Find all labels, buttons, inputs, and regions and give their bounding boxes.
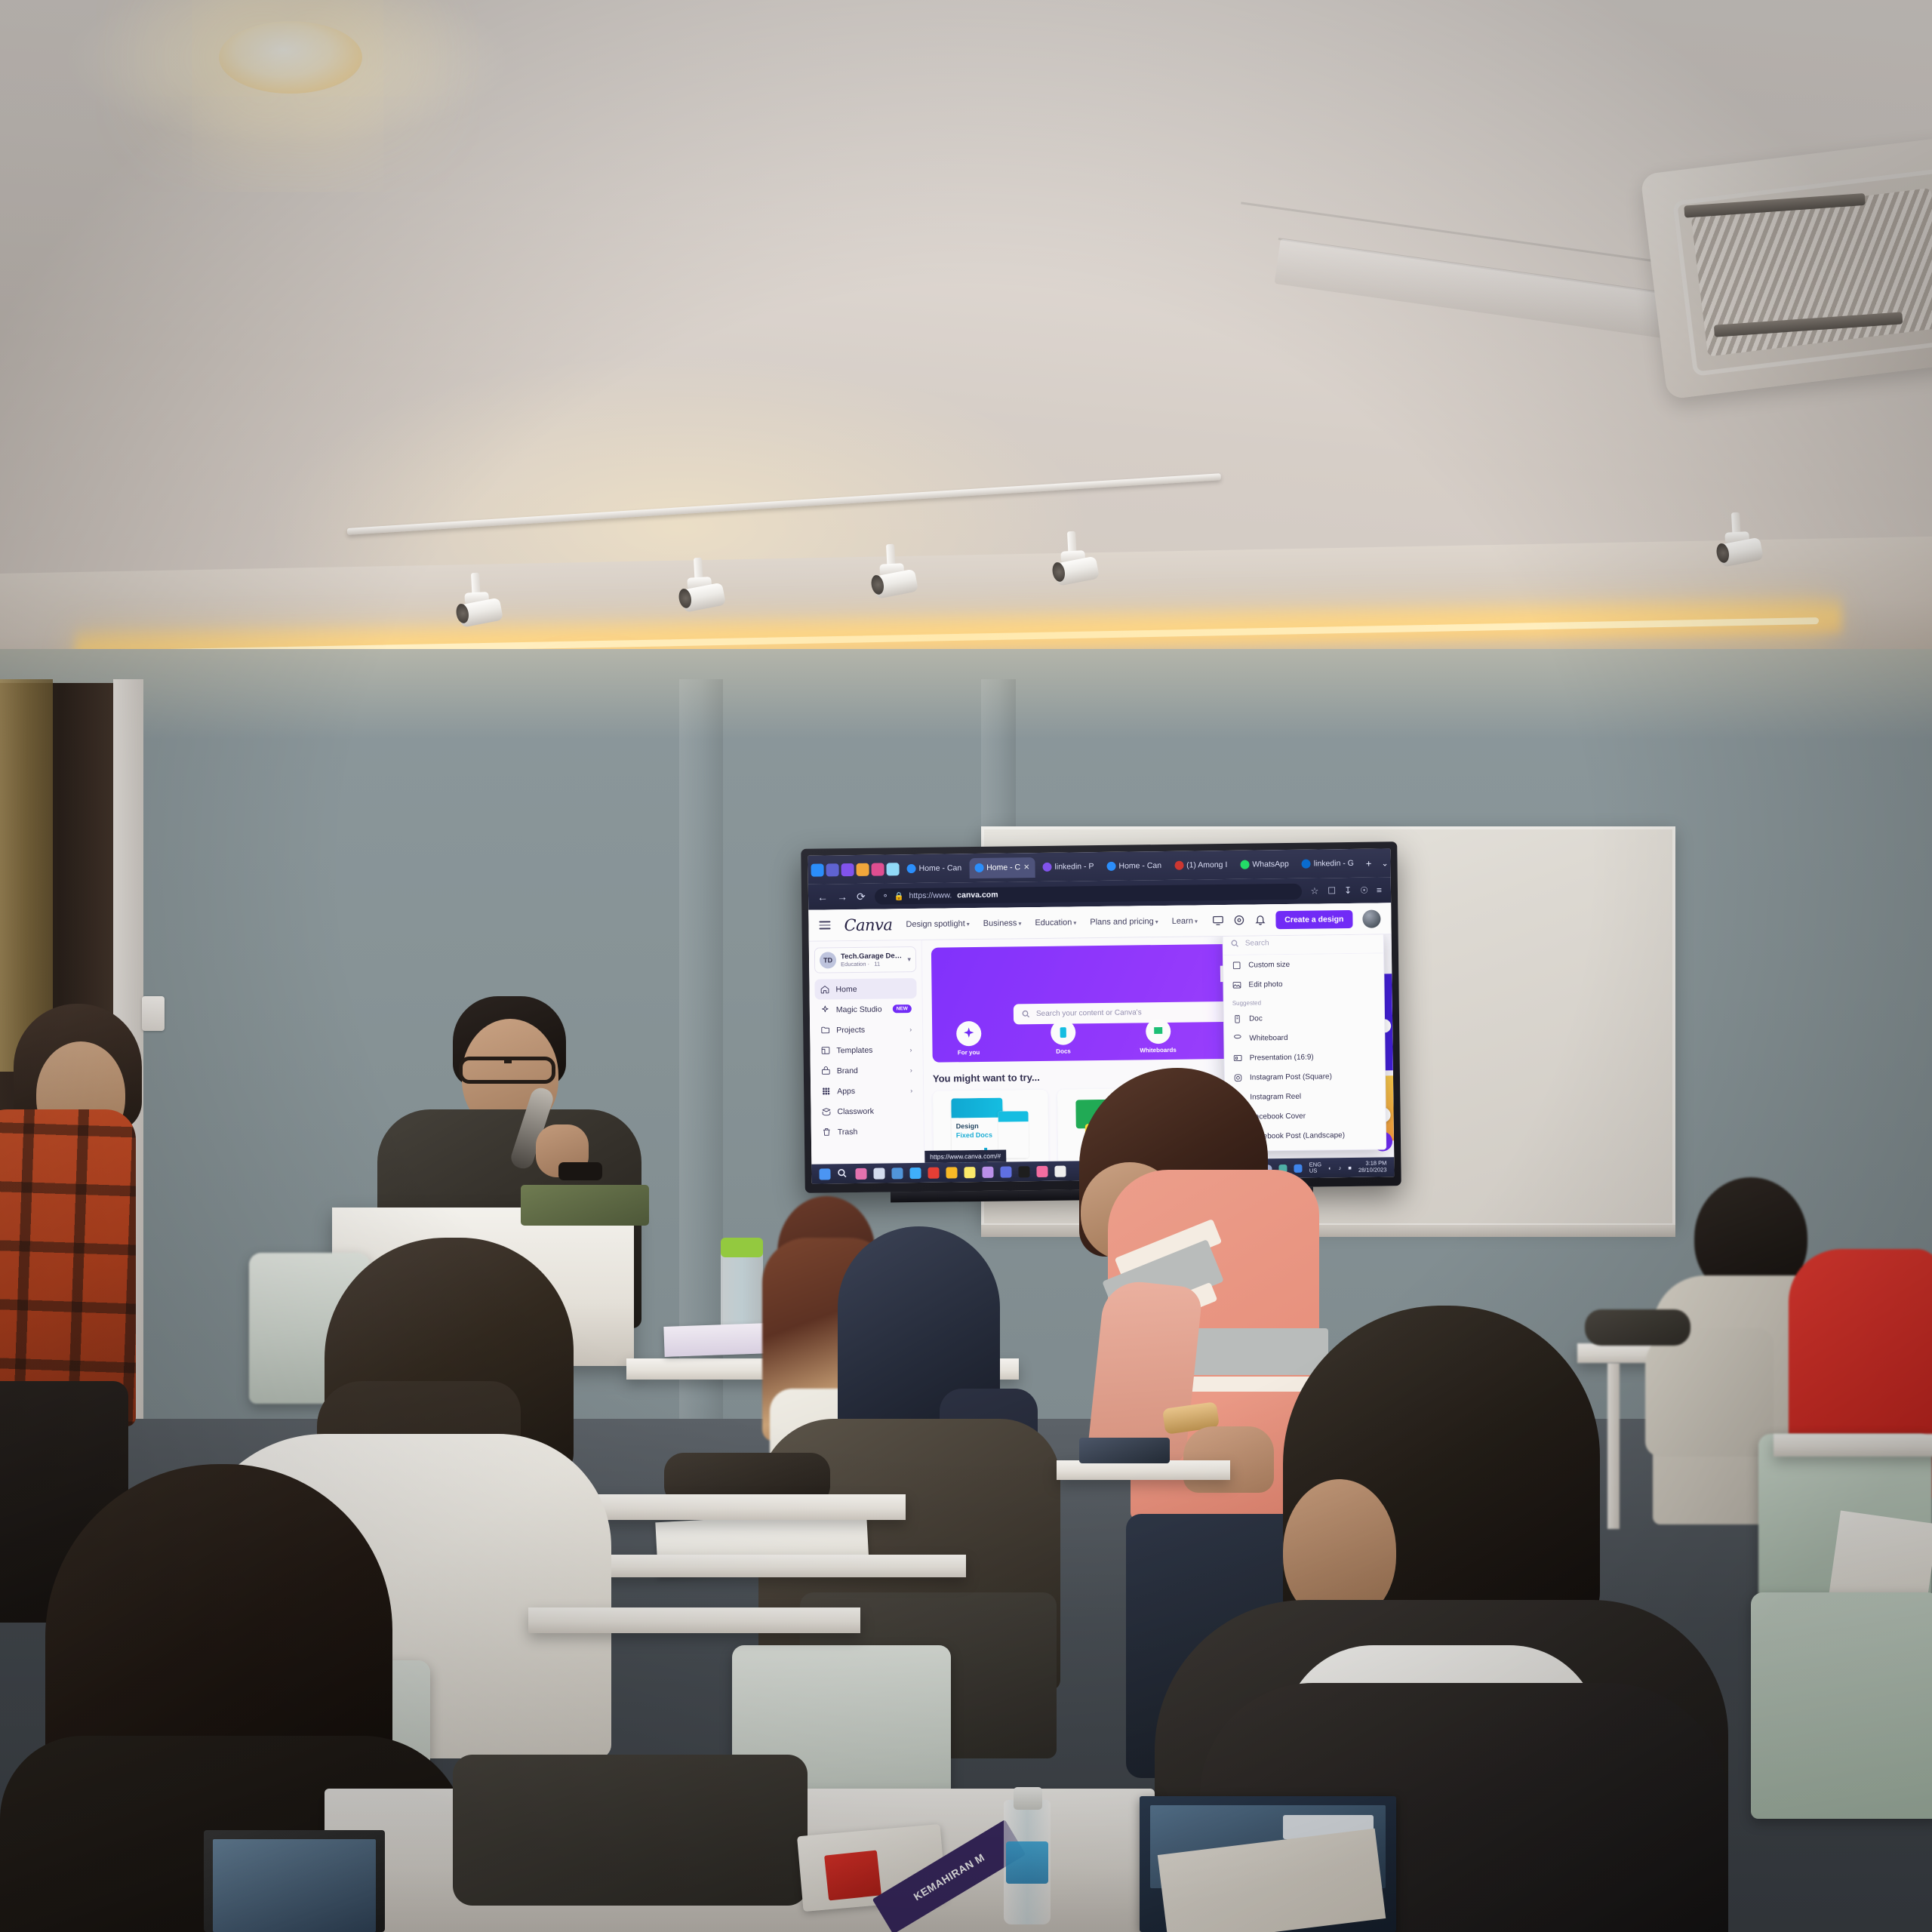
wall-upper-light-wash — [0, 649, 1932, 740]
wifi-icon[interactable]: ◐ — [1328, 1164, 1332, 1171]
back-icon[interactable]: ← — [817, 891, 828, 903]
tab-title: linkedin - P — [1054, 862, 1094, 872]
presentation-icon — [1233, 1053, 1243, 1063]
dropdown-search-input[interactable]: Search — [1223, 934, 1383, 955]
canva-nav-learn[interactable]: Learn▾ — [1172, 916, 1198, 925]
dropdown-item-label: Whiteboard — [1249, 1033, 1287, 1042]
chevron-right-icon[interactable]: › — [909, 1026, 912, 1033]
sanitizer-liquid — [1006, 1841, 1048, 1884]
tablet-on-desk[interactable] — [1079, 1438, 1170, 1463]
sanitizer-cap — [1014, 1787, 1042, 1810]
taskbar-tiktok-icon[interactable] — [1018, 1166, 1029, 1177]
custom-size-icon — [1232, 960, 1241, 970]
team-name: Tech.Garage Dec 8/... — [841, 952, 903, 961]
canva-nav-plans-and-pricing[interactable]: Plans and pricing▾ — [1090, 917, 1158, 927]
taskbar-pdf-icon[interactable] — [928, 1167, 939, 1178]
team-meta: Education · 11 — [841, 960, 903, 968]
sidebar-item-label: Projects — [836, 1025, 903, 1035]
edit-photo-icon — [1232, 980, 1241, 989]
desk-right-front — [1774, 1434, 1932, 1457]
help-icon[interactable] — [1233, 915, 1244, 926]
pinned-store-icon[interactable] — [856, 863, 869, 875]
ceiling-cassette-air-conditioner — [1640, 137, 1932, 400]
whiteboard-icon — [1152, 1025, 1164, 1038]
nav-label: Plans and pricing — [1090, 917, 1154, 927]
url-prefix: https://www. — [909, 891, 952, 900]
downloads-icon[interactable]: ↧ — [1344, 885, 1352, 896]
taskbar-search-icon[interactable] — [837, 1168, 848, 1180]
whiteboard-icon — [1232, 1033, 1242, 1043]
tab-favicon — [907, 864, 916, 873]
browser-tab-3[interactable]: Home - Can — [1101, 855, 1167, 876]
hero-search-placeholder: Search your content or Canva's — [1036, 1008, 1142, 1018]
dropdown-item-doc[interactable]: Doc — [1224, 1007, 1384, 1029]
sidebar-item-label: Apps — [837, 1086, 904, 1096]
pinned-obsidian-icon[interactable] — [841, 863, 854, 875]
user-avatar[interactable] — [1362, 909, 1380, 928]
browser-tab-1[interactable]: Home - C✕ — [969, 857, 1035, 878]
profile-icon[interactable]: ☉ — [1360, 885, 1368, 896]
url-input[interactable]: ⚬ 🔒 https://www.canva.com — [875, 883, 1302, 904]
bottle-cap — [721, 1238, 763, 1257]
podium-tray — [521, 1185, 649, 1226]
menu-icon[interactable]: ≡ — [1377, 884, 1382, 895]
battery-icon[interactable]: ■ — [1348, 1164, 1352, 1171]
sidebar-item-label: Magic Studio — [836, 1004, 887, 1014]
sidebar-item-projects[interactable]: Projects› — [815, 1019, 917, 1041]
tab-title: Home - Can — [919, 863, 962, 873]
dropdown-item-label: Instagram Reel — [1250, 1092, 1301, 1101]
dropdown-item-custom-size[interactable]: Custom size — [1223, 953, 1383, 975]
pinned-edge-icon[interactable] — [811, 863, 823, 876]
taskbar-paint-icon[interactable] — [1036, 1165, 1048, 1177]
sidebar-item-brand[interactable]: Brand› — [816, 1060, 918, 1081]
taskbar-explorer-icon[interactable] — [873, 1168, 884, 1179]
browser-tab-2[interactable]: linkedin - P — [1037, 857, 1099, 878]
pinned-mail-icon[interactable] — [871, 863, 884, 875]
desk-left-front — [528, 1607, 860, 1633]
new-tab-button[interactable]: + — [1361, 857, 1377, 869]
category-icon-circle — [956, 1021, 981, 1046]
tab-favicon — [1302, 860, 1311, 869]
home-icon — [820, 984, 829, 994]
sidebar-item-label: Brand — [837, 1066, 904, 1075]
laptop-left-screen — [213, 1839, 376, 1932]
chevron-right-icon[interactable]: › — [910, 1087, 912, 1094]
dropdown-item-label: Presentation (16:9) — [1250, 1053, 1314, 1062]
chevron-down-icon: ▾ — [967, 921, 970, 928]
nav-label: Design spotlight — [906, 919, 964, 929]
folder-icon — [820, 1025, 830, 1035]
dropdown-item-label: Instagram Post (Square) — [1250, 1072, 1332, 1081]
display-icon[interactable] — [1294, 1164, 1303, 1172]
dropdown-item-label: Custom size — [1248, 960, 1290, 969]
dropdown-item-whiteboard[interactable]: Whiteboard — [1224, 1026, 1384, 1048]
backpack-on-desk-right — [1585, 1309, 1690, 1346]
browser-tab-0[interactable]: Home - Can — [901, 858, 967, 879]
sparkle-icon — [962, 1027, 975, 1040]
browser-toolbar-icons[interactable]: ☐ ↧ ☉ ≡ — [1327, 884, 1382, 896]
chevron-down-icon: ▾ — [1018, 920, 1021, 927]
taskbar-start-icon[interactable] — [819, 1168, 830, 1180]
canva-sidebar[interactable]: TD Tech.Garage Dec 8/... Education · 11 … — [809, 940, 925, 1164]
team-avatar: TD — [820, 952, 836, 968]
taskbar-clock[interactable]: 3:18 PM 28/10/2023 — [1358, 1161, 1387, 1174]
window-controls[interactable]: – ◻ ✕ — [1394, 857, 1395, 869]
canva-nav-design-spotlight[interactable]: Design spotlight▾ — [906, 919, 969, 929]
sidebar-item-trash[interactable]: Trash — [817, 1121, 918, 1143]
tab-title: Home - Can — [1118, 861, 1161, 871]
browser-status-url: https://www.canva.com/# — [924, 1150, 1006, 1163]
menu-hamburger-icon[interactable] — [819, 921, 830, 929]
sidebar-item-templates[interactable]: Templates› — [815, 1039, 917, 1061]
template-title-line1: Design — [956, 1122, 979, 1130]
canva-top-right[interactable]: Create a design — [1212, 909, 1380, 930]
wall-outlet — [142, 996, 165, 1031]
pinned-teams-icon[interactable] — [826, 863, 838, 876]
category-label: Whiteboards — [1140, 1047, 1177, 1054]
classroom-photo-scene: Info : Sri Amirah H Sound 3A2IH95000 Hom… — [0, 0, 1932, 1932]
category-icon-circle — [1051, 1020, 1075, 1044]
clock-date: 28/10/2023 — [1358, 1167, 1387, 1174]
collections-icon[interactable]: ☐ — [1327, 885, 1336, 896]
tab-favicon — [1106, 862, 1115, 871]
pinned-notes-icon[interactable] — [886, 863, 899, 875]
category-icon-circle — [1146, 1019, 1171, 1044]
dome-ceiling-light — [219, 21, 362, 94]
lock-icon: 🔒 — [894, 891, 903, 901]
dropdown-item-presentation-16-9-[interactable]: Presentation (16:9) — [1225, 1046, 1385, 1068]
create-a-design-button[interactable]: Create a design — [1275, 909, 1352, 928]
chevron-down-icon: ▾ — [1155, 918, 1158, 925]
category-label: For you — [958, 1049, 980, 1056]
sidebar-item-apps[interactable]: Apps› — [816, 1080, 918, 1102]
red-box — [824, 1850, 881, 1901]
url-domain: canva.com — [957, 891, 998, 900]
taskbar-settings-icon[interactable] — [1000, 1166, 1011, 1177]
sidebar-item-label: Trash — [838, 1127, 913, 1137]
shield-icon: ⚬ — [882, 891, 889, 900]
sidebar-item-home[interactable]: Home — [814, 978, 916, 1000]
nav-label: Business — [983, 918, 1017, 928]
template-title-line2: Fixed Docs — [956, 1131, 992, 1140]
tab-favicon — [1240, 860, 1249, 869]
taskbar-folder-icon[interactable] — [946, 1167, 957, 1178]
forward-icon[interactable]: → — [837, 891, 848, 903]
sparkle-icon — [820, 1004, 830, 1014]
taskbar-todo-icon[interactable] — [909, 1167, 921, 1178]
hero-category-whiteboards[interactable]: Whiteboards — [1132, 1019, 1184, 1054]
tab-title: Home - C — [986, 863, 1020, 872]
tab-favicon — [1174, 861, 1183, 870]
reload-icon[interactable]: ⟳ — [857, 890, 866, 903]
sidebar-item-classwork[interactable]: Classwork — [816, 1100, 918, 1122]
chevron-down-icon[interactable]: ▾ — [907, 955, 911, 964]
dropdown-item-edit-photo[interactable]: Edit photo — [1223, 973, 1383, 995]
present-icon[interactable] — [1212, 915, 1223, 926]
search-icon — [1022, 1010, 1030, 1018]
sidebar-item-label: Templates — [836, 1045, 903, 1055]
hero-category-docs[interactable]: Docs — [1038, 1020, 1090, 1055]
facilitator-hand — [1183, 1426, 1274, 1493]
hero-category-for-you[interactable]: For you — [943, 1021, 995, 1057]
taskbar-widgets-icon[interactable] — [855, 1168, 866, 1179]
template-icon — [820, 1045, 830, 1055]
tab-close-icon[interactable]: ✕ — [1023, 863, 1030, 872]
brand-icon — [821, 1066, 831, 1075]
chevron-down-icon: ▾ — [1195, 918, 1198, 924]
desk-middle-front-2 — [574, 1555, 966, 1577]
tab-favicon — [1042, 863, 1051, 872]
browser-tab-6[interactable]: linkedin - G — [1297, 853, 1359, 874]
tab-title: WhatsApp — [1252, 860, 1289, 869]
taskbar-zoom-icon[interactable] — [982, 1166, 993, 1177]
tab-title: linkedin - G — [1314, 859, 1354, 869]
wristwatch — [558, 1162, 602, 1180]
speaker-icon[interactable]: ♪ — [1339, 1164, 1342, 1171]
category-label: Docs — [1056, 1048, 1071, 1054]
canva-nav-education[interactable]: Education▾ — [1035, 918, 1076, 928]
apps-icon — [821, 1086, 831, 1096]
taskbar-notes-icon[interactable] — [964, 1167, 975, 1178]
new-badge: NEW — [893, 1004, 912, 1013]
search-icon — [1231, 940, 1239, 948]
dropdown-section-label: Suggested — [1224, 992, 1384, 1009]
classwork-icon — [821, 1106, 831, 1116]
doc-icon — [1057, 1026, 1069, 1039]
chevron-right-icon[interactable]: › — [910, 1066, 912, 1074]
dropdown-item-label: Edit photo — [1248, 980, 1282, 989]
tab-favicon — [974, 863, 983, 872]
tab-title: (1) Among I — [1186, 860, 1227, 870]
doc-icon — [1232, 1014, 1242, 1023]
team-selector[interactable]: TD Tech.Garage Dec 8/... Education · 11 … — [814, 946, 916, 974]
sidebar-item-label: Home — [835, 984, 911, 994]
sidebar-item-magic-studio[interactable]: Magic StudioNEW — [815, 998, 917, 1020]
trash-icon — [822, 1127, 832, 1137]
taskbar-teams-icon[interactable] — [891, 1168, 903, 1179]
taskbar-chrome-icon[interactable] — [1054, 1165, 1066, 1177]
dropdown-item-label: Doc — [1249, 1014, 1263, 1023]
notifications-icon[interactable] — [1254, 914, 1266, 925]
dropdown-item-instagram-post-square-[interactable]: Instagram Post (Square) — [1225, 1066, 1385, 1088]
canva-nav-business[interactable]: Business▾ — [983, 918, 1022, 928]
chevron-right-icon[interactable]: › — [909, 1046, 912, 1054]
desk-leg-back-right — [1607, 1363, 1620, 1529]
dropdown-search-placeholder: Search — [1245, 939, 1269, 947]
sidebar-item-label: Classwork — [837, 1106, 912, 1116]
browser-tab-4[interactable]: (1) Among I — [1169, 854, 1233, 875]
nav-label: Education — [1035, 918, 1072, 928]
minimize-button[interactable]: – — [1394, 857, 1395, 868]
chevron-down-icon: ▾ — [1073, 919, 1076, 926]
pencil-case-foreground — [453, 1755, 808, 1906]
tab-list-button[interactable]: ⌄ — [1378, 858, 1391, 868]
instagram-icon — [1233, 1072, 1243, 1082]
favorite-icon[interactable]: ☆ — [1311, 885, 1319, 896]
language-indicator[interactable]: ENG US — [1309, 1162, 1321, 1174]
nav-label: Learn — [1172, 916, 1193, 925]
chair-right-front-green[interactable] — [1751, 1592, 1932, 1819]
canva-logo[interactable]: Canva — [844, 915, 892, 934]
browser-tab-5[interactable]: WhatsApp — [1235, 854, 1294, 875]
